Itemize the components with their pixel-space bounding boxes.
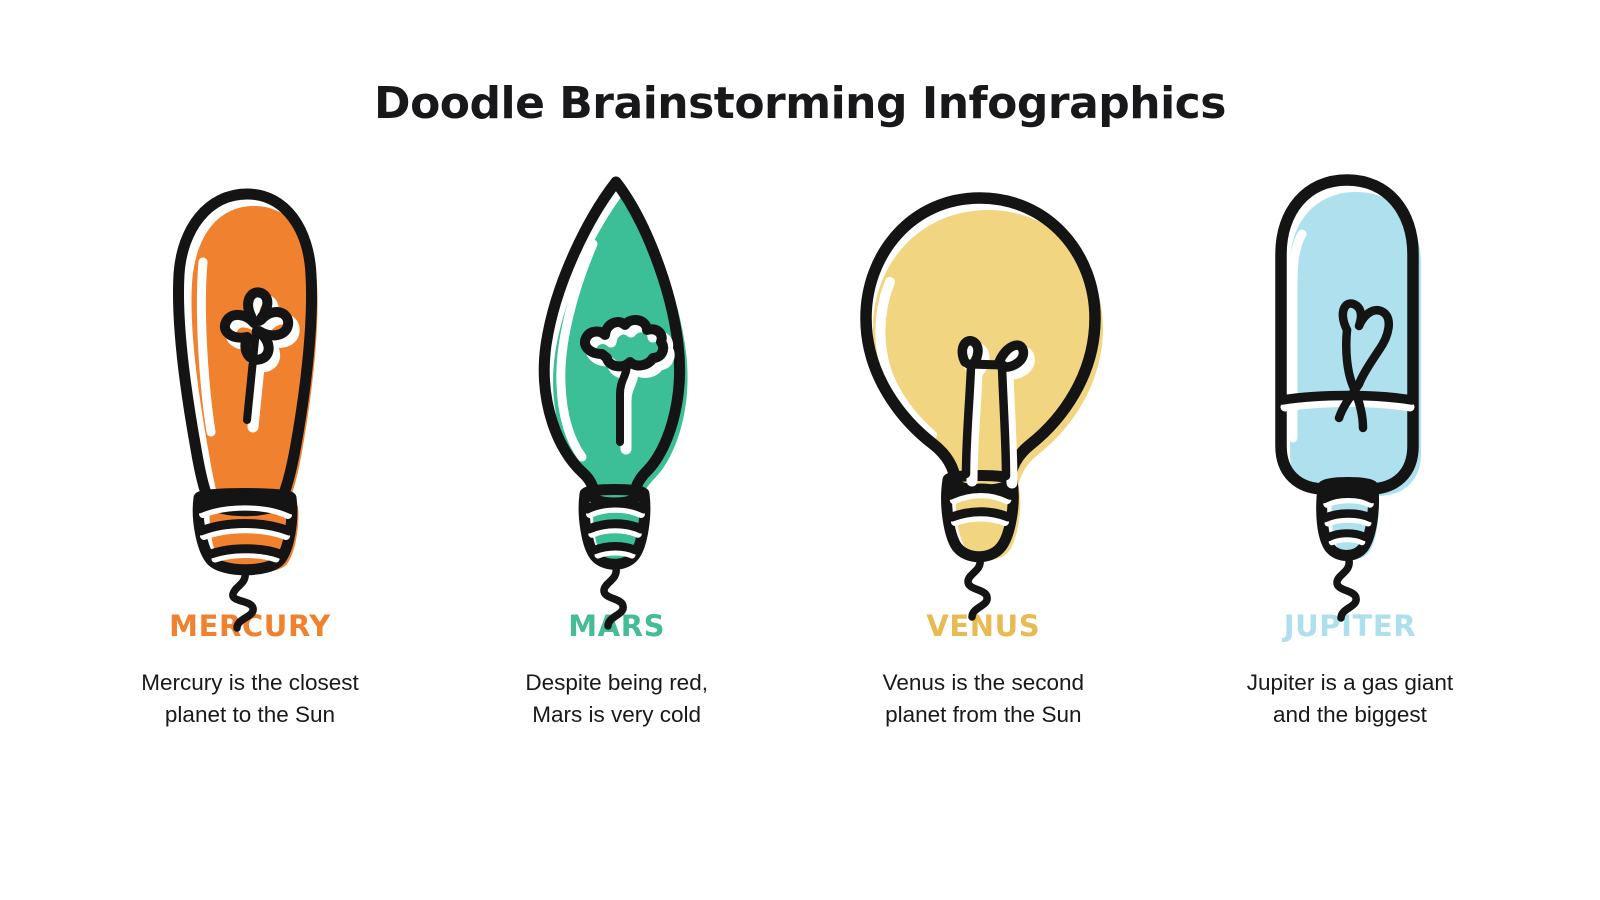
lightbulb-teardrop-icon <box>75 170 425 600</box>
description-line: planet to the Sun <box>141 699 359 731</box>
infographic-column-jupiter[interactable]: JUPITER Jupiter is a gas giant and the b… <box>1175 170 1525 731</box>
lightbulb-leaf-icon <box>442 170 792 600</box>
infographic-column-mars[interactable]: MARS Despite being red, Mars is very col… <box>442 170 792 731</box>
bulb-base-rings <box>199 501 292 559</box>
lightbulb-capsule-icon <box>1175 170 1525 600</box>
planet-description-mars: Despite being red, Mars is very cold <box>525 667 708 731</box>
planet-description-jupiter: Jupiter is a gas giant and the biggest <box>1247 667 1453 731</box>
infographic-columns: MERCURY Mercury is the closest planet to… <box>75 170 1525 731</box>
planet-label-jupiter: JUPITER <box>1284 612 1417 641</box>
infographic-column-mercury[interactable]: MERCURY Mercury is the closest planet to… <box>75 170 425 731</box>
slide-canvas: Doodle Brainstorming Infographics <box>0 0 1600 900</box>
bulb-base-rings <box>587 503 644 555</box>
planet-description-mercury: Mercury is the closest planet to the Sun <box>141 667 359 731</box>
description-line: Jupiter is a gas giant <box>1247 667 1453 699</box>
planet-label-venus: VENUS <box>926 612 1040 641</box>
description-line: Mars is very cold <box>525 699 708 731</box>
description-line: and the biggest <box>1247 699 1453 731</box>
infographic-column-venus[interactable]: VENUS Venus is the second planet from th… <box>808 170 1158 731</box>
bulb-base-rings <box>1324 494 1372 542</box>
description-line: Mercury is the closest <box>141 667 359 699</box>
description-line: Venus is the second <box>883 667 1084 699</box>
description-line: Despite being red, <box>525 667 708 699</box>
planet-description-venus: Venus is the second planet from the Sun <box>883 667 1084 731</box>
bulb-glass-fill <box>873 210 1103 488</box>
bulb-glass-fill <box>1290 192 1421 496</box>
lightbulb-round-icon <box>808 170 1158 600</box>
description-line: planet from the Sun <box>883 699 1084 731</box>
page-title: Doodle Brainstorming Infographics <box>0 78 1600 129</box>
